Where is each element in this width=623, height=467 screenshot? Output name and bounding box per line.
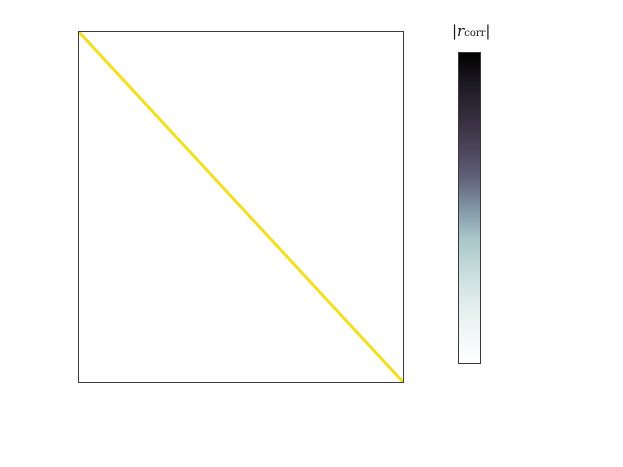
colorbar-title: |rcorr| — [452, 22, 490, 40]
heatmap-panel[interactable] — [78, 31, 404, 383]
x-axis-label-group — [78, 386, 404, 467]
y-axis-label-group — [0, 31, 74, 383]
colorbar — [458, 52, 481, 364]
heatmap-cell-grid[interactable] — [79, 32, 403, 382]
correlation-matrix-figure: |rcorr| — [0, 0, 623, 467]
